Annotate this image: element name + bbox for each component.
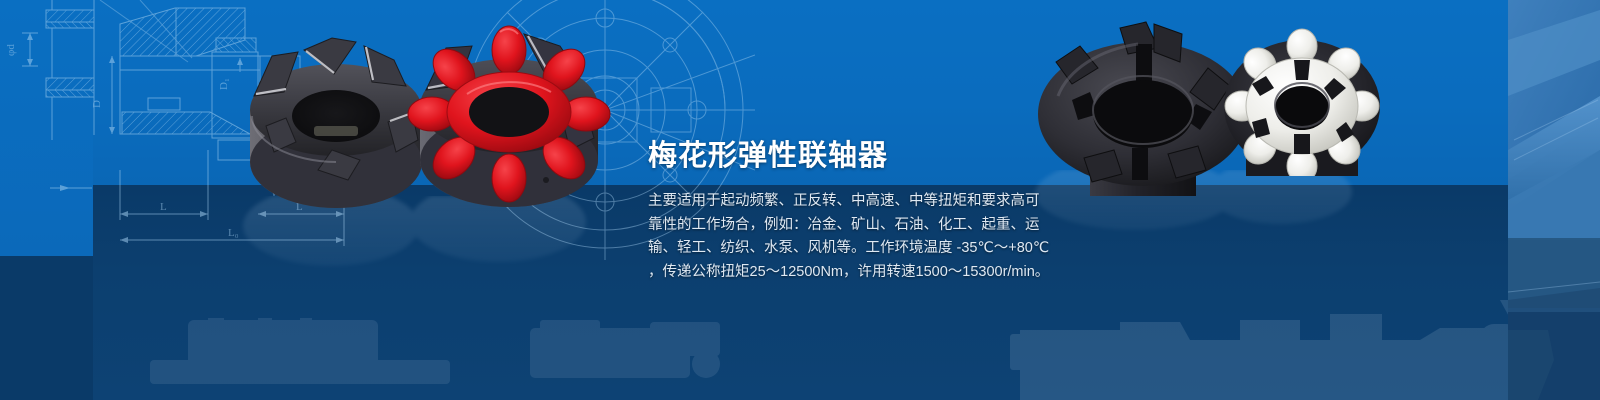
product-jaw-coupling-red-spider	[404, 22, 614, 212]
ghost-machine-roller-left	[150, 318, 450, 393]
description-line-4: ，传递公称扭矩25～12500Nm，许用转速1500～15300r/min。	[648, 261, 1068, 285]
banner-description: 主要适用于起动频繁、正反转、中高速、中等扭矩和要求高可 靠性的工作场合，例如：冶…	[648, 190, 1068, 284]
svg-text:D: D	[91, 100, 103, 108]
svg-text:φd: φd	[5, 44, 17, 56]
svg-text:D₁: D₁	[218, 78, 230, 90]
product-jaw-coupling-white-spider	[1222, 26, 1382, 176]
description-line-3: 输、轻工、纺织、水泵、风机等。工作环境温度 -35℃～+80℃	[648, 237, 1068, 261]
svg-text:L: L	[160, 201, 167, 213]
product-reflection-left	[236, 196, 596, 306]
ghost-machine-block-center	[530, 320, 730, 389]
industrial-machinery-photo	[1508, 0, 1600, 400]
description-line-1: 主要适用于起动频繁、正反转、中高速、中等扭矩和要求高可	[648, 190, 1068, 214]
banner-title: 梅花形弹性联轴器	[648, 138, 888, 174]
description-line-2: 靠性的工作场合，例如：冶金、矿山、石油、化工、起重、运	[648, 214, 1068, 238]
product-banner: φd D D₁ L L L₀	[0, 0, 1600, 400]
